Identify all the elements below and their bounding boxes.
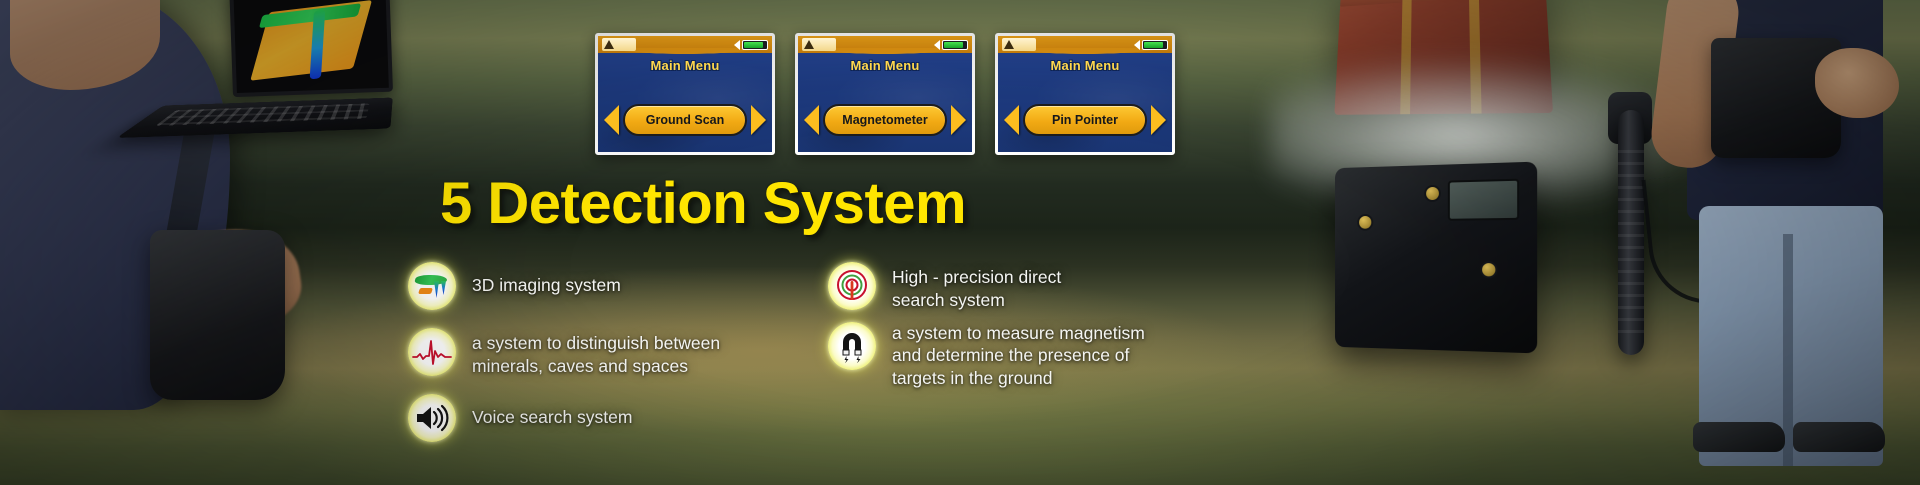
chevron-left-icon[interactable] [1004, 105, 1019, 135]
laptop-keys [155, 103, 369, 125]
feature-item-magnetism: a system to measure magnetism and determ… [828, 322, 1228, 390]
panel-title: Main Menu [598, 58, 772, 73]
promo-banner: Main Menu Ground Scan Main Menu Magnetom… [0, 0, 1920, 485]
feature-label: a system to distinguish between minerals… [472, 328, 720, 378]
device-panel-ground-scan[interactable]: Main Menu Ground Scan [595, 33, 775, 155]
status-indicators [934, 40, 968, 50]
panel-mode-selector: Magnetometer [804, 104, 966, 136]
feature-label: Voice search system [472, 394, 632, 429]
detector-main-unit [1335, 162, 1537, 354]
brand-logo-icon [1002, 38, 1036, 51]
feature-list-left: 3D imaging system a system to distinguis… [408, 262, 808, 456]
chevron-left-icon[interactable] [604, 105, 619, 135]
panel-status-bar [998, 36, 1172, 53]
treasure-chest-lid [1340, 0, 1546, 7]
3d-terrain-icon [408, 262, 456, 310]
waveform-icon [408, 328, 456, 376]
operator-shoe [1793, 422, 1885, 452]
panel-mode-selector: Pin Pointer [1004, 104, 1166, 136]
feature-item-3d-imaging: 3D imaging system [408, 262, 808, 310]
battery-icon [1142, 40, 1168, 50]
panel-title: Main Menu [798, 58, 972, 73]
signal-target-svg [834, 268, 870, 304]
speaker-icon [1134, 40, 1140, 50]
feature-item-high-precision: High - precision direct search system [828, 262, 1228, 312]
detector-knob [1357, 214, 1373, 231]
detector-knob [1424, 185, 1441, 202]
detector-display [1448, 179, 1519, 221]
device-panel-magnetometer[interactable]: Main Menu Magnetometer [795, 33, 975, 155]
laptop [137, 0, 392, 150]
chevron-right-icon[interactable] [751, 105, 766, 135]
speaker-svg [415, 404, 449, 432]
mode-button[interactable]: Magnetometer [823, 104, 947, 136]
magnet-svg [835, 329, 869, 363]
chevron-right-icon[interactable] [951, 105, 966, 135]
panel-mode-selector: Ground Scan [604, 104, 766, 136]
chevron-left-icon[interactable] [804, 105, 819, 135]
panel-status-bar [798, 36, 972, 53]
ground-scan-3d-plot [250, 0, 372, 81]
operator-shoe [1693, 422, 1785, 452]
operator-right-hand [1815, 48, 1899, 118]
speaker-icon [408, 394, 456, 442]
signal-target-icon [828, 262, 876, 310]
feature-label: 3D imaging system [472, 262, 621, 297]
feature-label: a system to measure magnetism and determ… [892, 322, 1145, 390]
laptop-screen [229, 0, 393, 97]
device-menu-panels: Main Menu Ground Scan Main Menu Magnetom… [595, 33, 1175, 155]
mode-button[interactable]: Pin Pointer [1023, 104, 1147, 136]
page-title: 5 Detection System [440, 170, 966, 237]
device-panel-pin-pointer[interactable]: Main Menu Pin Pointer [995, 33, 1175, 155]
chevron-right-icon[interactable] [1151, 105, 1166, 135]
status-indicators [734, 40, 768, 50]
laptop-keyboard-base [117, 98, 393, 138]
waveform-svg [412, 337, 452, 367]
brand-logo-icon [802, 38, 836, 51]
feature-list-right: High - precision direct search system a … [828, 262, 1228, 404]
feature-item-voice-search: Voice search system [408, 394, 808, 442]
panel-title: Main Menu [998, 58, 1172, 73]
speaker-icon [934, 40, 940, 50]
panel-status-bar [598, 36, 772, 53]
speaker-icon [734, 40, 740, 50]
brand-logo-icon [602, 38, 636, 51]
status-indicators [1134, 40, 1168, 50]
battery-icon [742, 40, 768, 50]
equipment-bag [150, 230, 285, 400]
feature-label: High - precision direct search system [892, 262, 1061, 312]
probe-rod [1618, 110, 1644, 355]
battery-icon [942, 40, 968, 50]
magnet-icon [828, 322, 876, 370]
feature-item-mineral-distinguish: a system to distinguish between minerals… [408, 328, 808, 378]
operator-right-figure [1665, 0, 1920, 485]
detector-knob [1480, 261, 1497, 278]
mode-button[interactable]: Ground Scan [623, 104, 747, 136]
